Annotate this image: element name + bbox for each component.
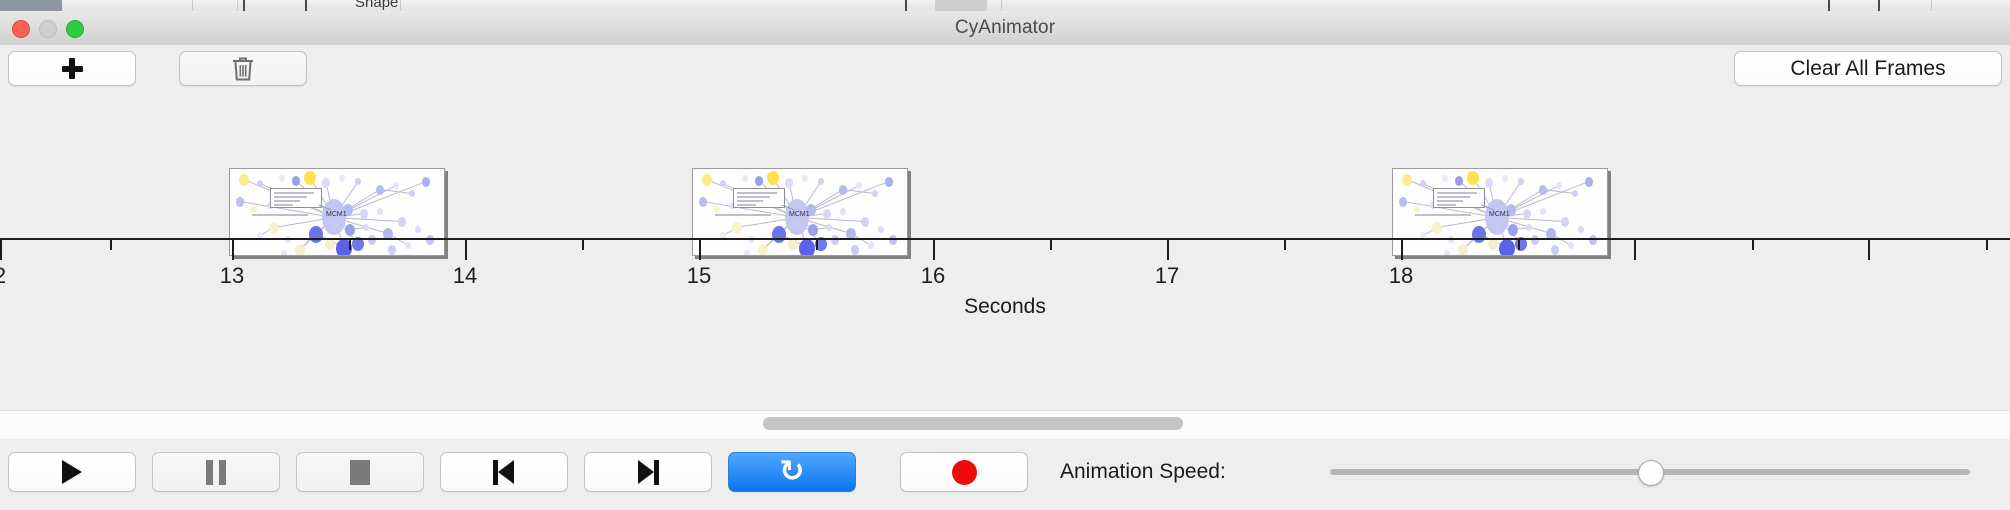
axis-tick-label: 18 [1389, 263, 1413, 289]
network-node [772, 226, 786, 243]
frame-caption-text [252, 214, 308, 216]
network-node [345, 224, 355, 236]
network-node [732, 222, 742, 234]
frame-thumbnail[interactable]: MCM1 [229, 168, 445, 256]
network-node [1568, 242, 1574, 249]
axis-tick-label: 17 [1155, 263, 1179, 289]
network-node [1432, 222, 1442, 234]
axis-tick-minor [582, 240, 584, 250]
background-tick [243, 0, 245, 11]
axis-tick-minor [1752, 240, 1754, 250]
frame-legend-box [270, 188, 322, 208]
legend-text-line [1437, 192, 1477, 194]
axis-tick-major [465, 240, 467, 260]
clear-all-frames-button[interactable]: Clear All Frames [1734, 51, 2002, 86]
network-node [292, 176, 300, 186]
frame-legend-box [733, 188, 785, 208]
network-node [1414, 206, 1420, 213]
network-node [355, 178, 361, 185]
background-box [935, 0, 987, 11]
network-node [1585, 177, 1593, 187]
network-node [840, 208, 846, 215]
axis-tick-minor [1518, 240, 1520, 250]
delete-frame-button[interactable] [179, 51, 307, 86]
network-node [295, 244, 305, 256]
title-bar: CyAnimator [0, 11, 2010, 46]
axis-tick-major [232, 240, 234, 260]
loop-icon: ↻ [779, 457, 804, 487]
network-node [1539, 185, 1547, 195]
background-segment [62, 0, 193, 11]
axis-tick-major [699, 240, 701, 260]
network-node [279, 175, 285, 182]
frame-thumbnail[interactable]: MCM1 [1392, 168, 1608, 256]
network-node [363, 224, 369, 231]
frame-network-preview: MCM1 [693, 169, 907, 255]
network-node [1442, 175, 1448, 182]
network-node [415, 226, 421, 233]
network-node [1508, 224, 1518, 236]
network-node [1518, 178, 1524, 185]
legend-text-line [1437, 200, 1463, 202]
network-node [802, 175, 808, 182]
network-node [1402, 174, 1412, 186]
network-node [699, 197, 707, 207]
legend-text-line [274, 192, 314, 194]
network-hub-label: MCM1 [789, 211, 810, 218]
network-node [1499, 239, 1515, 256]
horizontal-scrollbar[interactable] [0, 410, 2010, 440]
record-button[interactable] [900, 452, 1028, 492]
plus-icon [61, 57, 84, 80]
trash-icon [231, 56, 255, 82]
background-window-strip: Shape [0, 0, 2010, 11]
network-node [1540, 208, 1546, 215]
network-node [281, 250, 287, 256]
network-node [322, 178, 330, 188]
background-tick [1878, 0, 1880, 11]
axis-tick-minor [110, 240, 112, 250]
pause-icon [206, 460, 226, 485]
record-icon [952, 460, 977, 485]
pause-button[interactable] [152, 452, 280, 492]
network-node [714, 206, 720, 213]
network-node [376, 185, 384, 195]
stop-icon [350, 460, 370, 485]
axis-tick-major [933, 240, 935, 260]
timeline-panel[interactable]: MCM1MCM1MCM1 2131415161718 Seconds [0, 88, 2010, 410]
network-node [702, 174, 712, 186]
network-node [818, 178, 824, 185]
animation-speed-slider[interactable] [1330, 452, 1970, 492]
skip-back-icon [491, 460, 517, 485]
slider-thumb[interactable] [1638, 460, 1664, 486]
network-node [398, 217, 406, 227]
network-node [1551, 245, 1559, 255]
network-node [885, 177, 893, 187]
network-node [826, 224, 832, 231]
background-segment [192, 0, 238, 11]
network-node [339, 175, 345, 182]
axis-tick-major [1167, 240, 1169, 260]
network-node [393, 182, 399, 189]
background-segment [1930, 0, 1932, 11]
axis-tick-major [0, 240, 2, 260]
legend-text-line [274, 204, 293, 206]
play-button[interactable] [8, 452, 136, 492]
network-node [878, 226, 884, 233]
stop-button[interactable] [296, 452, 424, 492]
axis-tick-minor [1050, 240, 1052, 250]
network-hub-label: MCM1 [1489, 211, 1510, 218]
network-node [856, 182, 862, 189]
legend-text-line [737, 192, 777, 194]
network-hub-label: MCM1 [326, 211, 347, 218]
network-node [1458, 244, 1468, 256]
network-node [1526, 224, 1532, 231]
axis-tick-label: 15 [687, 263, 711, 289]
window-title: CyAnimator [0, 11, 2010, 45]
network-node [251, 206, 257, 213]
network-node [1502, 175, 1508, 182]
axis-tick-major [1634, 240, 1636, 260]
frame-network-preview: MCM1 [230, 169, 444, 255]
network-node [388, 245, 396, 255]
network-node [861, 217, 869, 227]
background-tick [905, 0, 907, 11]
network-node [422, 177, 430, 187]
network-node [1455, 176, 1463, 186]
toolbar: Clear All Frames [0, 45, 2010, 89]
frame-caption-text [715, 214, 771, 216]
axis-tick-major [1401, 240, 1403, 260]
add-frame-button[interactable] [8, 51, 136, 86]
axis-tick-label: 16 [921, 263, 945, 289]
legend-text-line [737, 200, 763, 202]
skip-to-end-button[interactable] [584, 452, 712, 492]
network-node [1485, 178, 1493, 188]
network-node [409, 190, 415, 197]
network-node [755, 176, 763, 186]
play-icon [62, 460, 82, 484]
network-node [742, 175, 748, 182]
network-node [851, 245, 859, 255]
animation-speed-label: Animation Speed: [1060, 452, 1226, 492]
network-node [839, 185, 847, 195]
network-node [360, 209, 368, 219]
network-node [744, 250, 750, 256]
network-node [1523, 209, 1531, 219]
background-window-label: Shape [355, 0, 398, 11]
loop-button[interactable]: ↻ [728, 452, 856, 492]
network-node [785, 178, 793, 188]
axis-tick-label: 13 [220, 263, 244, 289]
background-window-sidebar [0, 0, 62, 11]
legend-text-line [274, 196, 307, 198]
network-node [1399, 197, 1407, 207]
scroll-thumb[interactable] [763, 417, 1183, 430]
frame-network-preview: MCM1 [1393, 169, 1607, 255]
network-node [405, 242, 411, 249]
axis-tick-minor [349, 240, 351, 250]
network-node [1493, 221, 1501, 231]
background-segment [1000, 0, 1002, 11]
timeline-axis [0, 238, 2010, 240]
network-node [1572, 190, 1578, 197]
axis-tick-minor [816, 240, 818, 250]
cyanimator-window: Shape CyAnimator Clear All Frames [0, 0, 2010, 510]
legend-text-line [1437, 196, 1470, 198]
network-node [872, 190, 878, 197]
axis-tick-major [1868, 240, 1870, 260]
network-node [868, 242, 874, 249]
network-node [799, 239, 815, 256]
frame-thumbnail[interactable]: MCM1 [692, 168, 908, 256]
network-node [236, 197, 244, 207]
frame-caption-text [1415, 214, 1471, 216]
network-node [1444, 250, 1450, 256]
network-node [269, 222, 279, 234]
network-node [1556, 182, 1562, 189]
network-node [309, 226, 323, 243]
axis-tick-minor [1284, 240, 1286, 250]
network-node [1472, 226, 1486, 243]
skip-to-start-button[interactable] [440, 452, 568, 492]
legend-text-line [737, 196, 770, 198]
network-node [758, 244, 768, 256]
network-node [377, 208, 383, 215]
playback-control-bar: ↻ Animation Speed: [0, 439, 2010, 510]
legend-text-line [274, 200, 300, 202]
network-node [1578, 226, 1584, 233]
legend-text-line [737, 204, 756, 206]
skip-forward-icon [635, 460, 661, 485]
axis-tick-label: 14 [453, 263, 477, 289]
legend-text-line [1437, 204, 1456, 206]
network-node [330, 221, 338, 231]
network-node [793, 221, 801, 231]
network-node [239, 174, 249, 186]
network-node [1561, 217, 1569, 227]
background-tick [305, 0, 307, 11]
axis-tick-label: 2 [0, 263, 6, 289]
network-node [823, 209, 831, 219]
axis-title: Seconds [0, 295, 2010, 319]
frame-legend-box [1433, 188, 1485, 208]
background-tick [1828, 0, 1830, 11]
network-node [808, 224, 818, 236]
axis-tick-minor [1986, 240, 1988, 250]
